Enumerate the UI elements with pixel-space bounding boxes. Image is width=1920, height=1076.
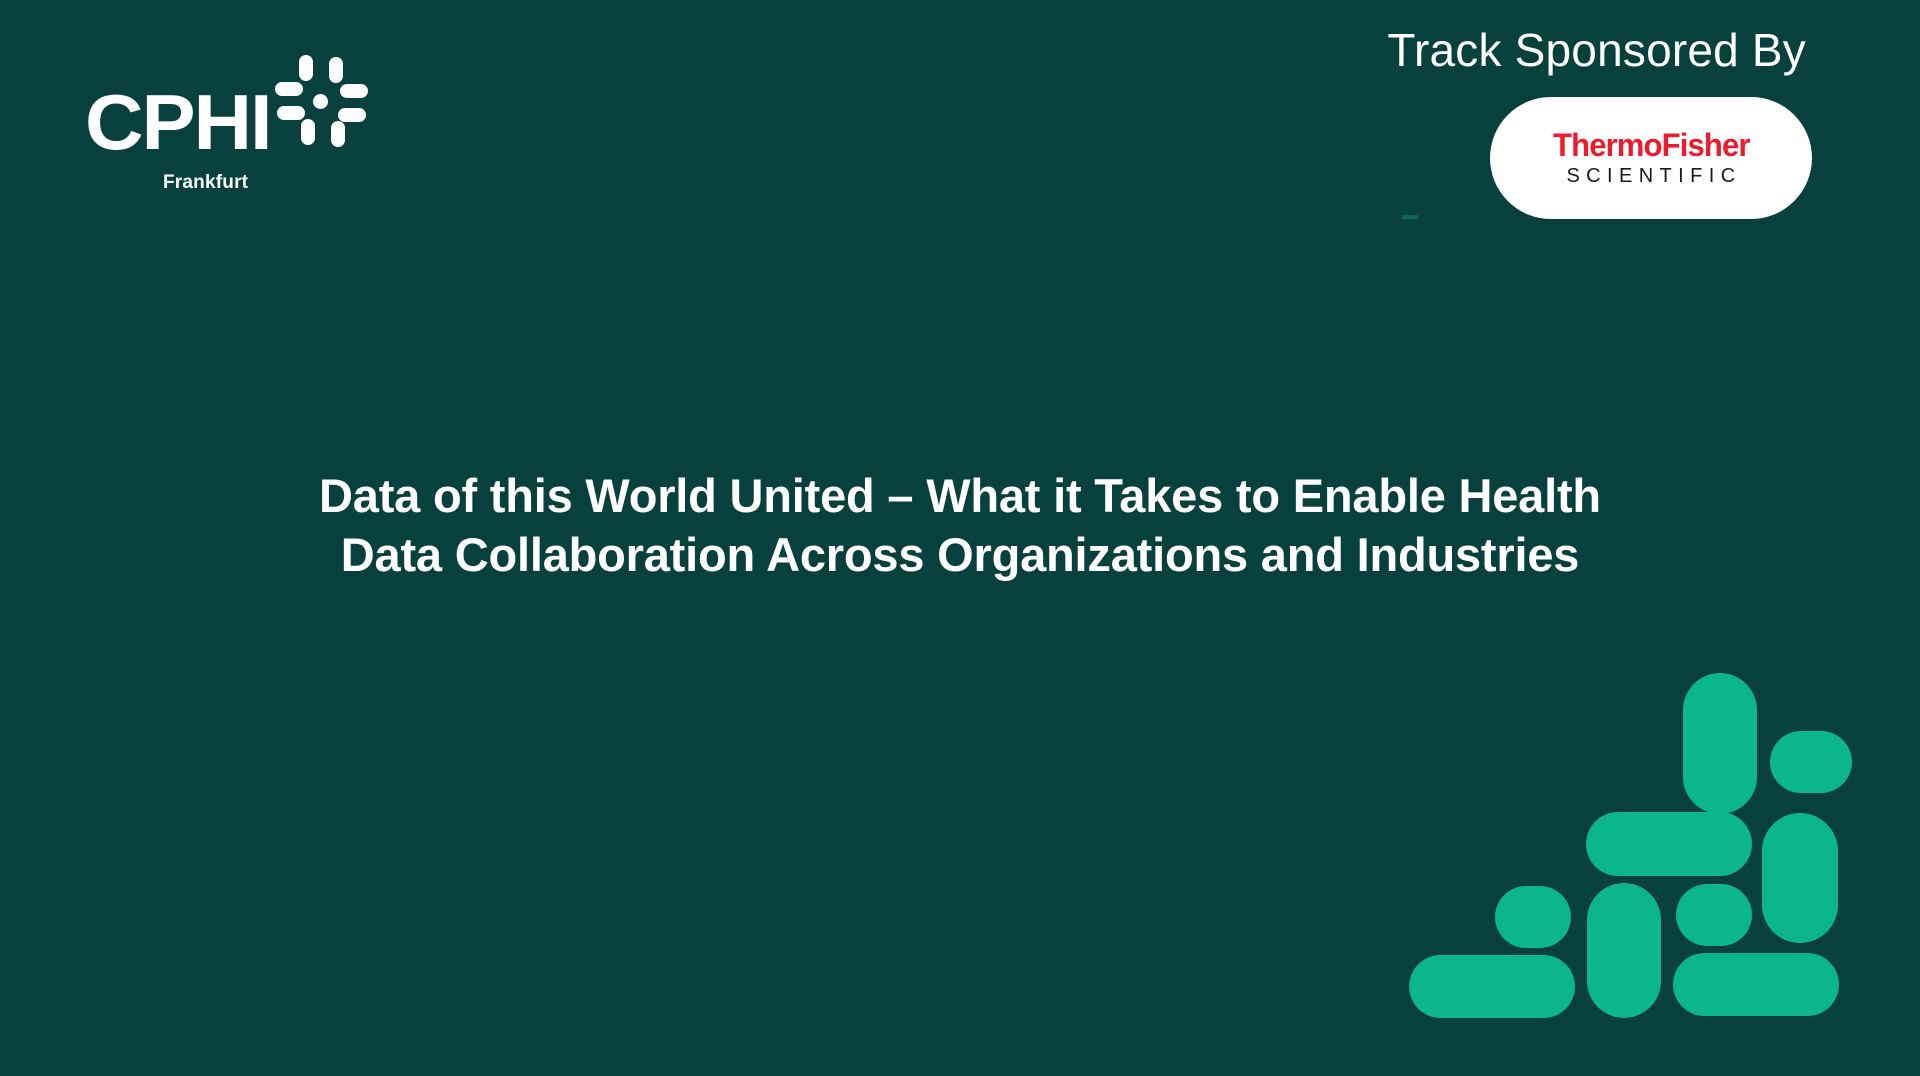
cphi-logo: CPHI Frankfurt [85,55,385,200]
pill-wide-bottom-left [1409,955,1575,1018]
pill-tall-right [1762,813,1838,943]
thermo-fisher-wordmark: ThermoFisher [1553,129,1750,161]
sponsor-caption: Track Sponsored By [1372,25,1812,76]
session-title: Data of this World United – What it Take… [315,466,1605,584]
pill-tall-mid [1587,883,1661,1018]
sponsor-logo-artifact [1402,215,1418,219]
track-sponsor-block: Track Sponsored By ThermoFisher SCIENTIF… [1372,25,1812,219]
pill-dot-left [1495,886,1571,948]
cphi-wordmark: CPHI [85,83,270,161]
cphi-radial-dots-icon [275,55,367,147]
pill-wide-bottom-right [1673,953,1839,1016]
pill-dot-mid [1676,884,1752,946]
thermo-fisher-subwordmark: SCIENTIFIC [1560,166,1741,186]
pill-dot-top-right [1770,731,1852,793]
title-area: Data of this World United – What it Take… [0,466,1920,584]
pill-wide-upper [1586,812,1752,876]
thermo-fisher-logo: ThermoFisher SCIENTIFIC [1490,97,1812,219]
pill-tall-top [1683,673,1757,814]
cphi-city-label: Frankfurt [163,172,248,194]
presentation-slide: CPHI Frankfurt Track Sponsored By [0,0,1920,1076]
